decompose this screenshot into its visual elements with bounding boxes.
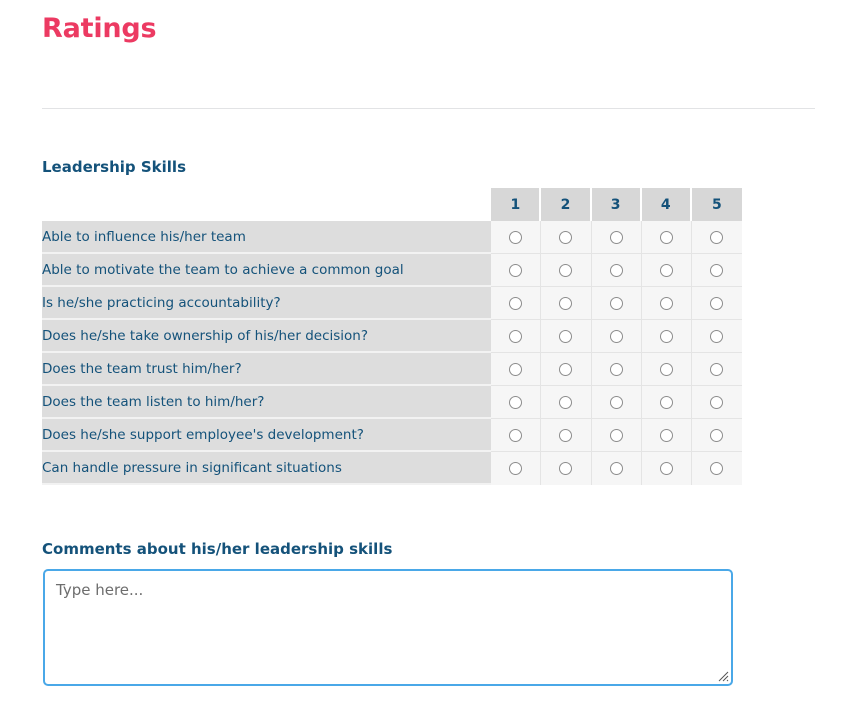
question-label: Able to motivate the team to achieve a c… [42,254,491,287]
radio-cell-r6-c1[interactable] [491,386,541,419]
radio-button-icon[interactable] [710,363,723,376]
radio-button-icon[interactable] [559,297,572,310]
radio-button-icon[interactable] [660,231,673,244]
radio-cell-r7-c4[interactable] [642,419,692,452]
radio-button-icon[interactable] [660,330,673,343]
table-row: Does he/she support employee's developme… [42,419,742,452]
radio-button-icon[interactable] [610,297,623,310]
radio-button-icon[interactable] [710,462,723,475]
radio-button-icon[interactable] [509,396,522,409]
matrix-header-row: 1 2 3 4 5 [42,188,742,221]
radio-cell-r1-c1[interactable] [491,221,541,254]
radio-cell-r3-c2[interactable] [541,287,591,320]
rating-column-header-4: 4 [642,188,692,221]
radio-button-icon[interactable] [660,363,673,376]
radio-cell-r7-c3[interactable] [592,419,642,452]
matrix-corner-cell [42,188,491,221]
matrix-body: Able to influence his/her team Able to m… [42,221,742,485]
radio-cell-r2-c3[interactable] [592,254,642,287]
radio-cell-r6-c2[interactable] [541,386,591,419]
radio-cell-r3-c3[interactable] [592,287,642,320]
header-divider [42,108,815,109]
radio-button-icon[interactable] [710,396,723,409]
radio-cell-r8-c4[interactable] [642,452,692,485]
radio-cell-r8-c1[interactable] [491,452,541,485]
radio-cell-r3-c5[interactable] [692,287,742,320]
radio-cell-r4-c1[interactable] [491,320,541,353]
question-label: Can handle pressure in significant situa… [42,452,491,485]
table-row: Can handle pressure in significant situa… [42,452,742,485]
rating-column-header-1: 1 [491,188,541,221]
radio-button-icon[interactable] [509,363,522,376]
rating-column-header-5: 5 [692,188,742,221]
comments-textarea[interactable] [43,569,733,686]
radio-button-icon[interactable] [559,462,572,475]
radio-cell-r2-c5[interactable] [692,254,742,287]
question-label: Does he/she take ownership of his/her de… [42,320,491,353]
table-row: Does he/she take ownership of his/her de… [42,320,742,353]
radio-cell-r7-c2[interactable] [541,419,591,452]
table-row: Does the team trust him/her? [42,353,742,386]
radio-button-icon[interactable] [610,330,623,343]
radio-button-icon[interactable] [710,264,723,277]
rating-column-header-2: 2 [541,188,591,221]
radio-button-icon[interactable] [509,462,522,475]
radio-cell-r3-c1[interactable] [491,287,541,320]
radio-cell-r2-c2[interactable] [541,254,591,287]
radio-cell-r4-c4[interactable] [642,320,692,353]
question-label: Able to influence his/her team [42,221,491,254]
radio-button-icon[interactable] [610,363,623,376]
radio-cell-r8-c3[interactable] [592,452,642,485]
radio-cell-r4-c2[interactable] [541,320,591,353]
radio-button-icon[interactable] [660,297,673,310]
radio-button-icon[interactable] [559,396,572,409]
radio-cell-r1-c5[interactable] [692,221,742,254]
radio-button-icon[interactable] [660,462,673,475]
radio-button-icon[interactable] [610,396,623,409]
radio-button-icon[interactable] [509,330,522,343]
radio-button-icon[interactable] [710,330,723,343]
radio-cell-r2-c1[interactable] [491,254,541,287]
radio-button-icon[interactable] [660,264,673,277]
radio-button-icon[interactable] [610,264,623,277]
radio-button-icon[interactable] [610,462,623,475]
radio-cell-r6-c4[interactable] [642,386,692,419]
radio-cell-r1-c4[interactable] [642,221,692,254]
radio-button-icon[interactable] [509,231,522,244]
radio-cell-r4-c5[interactable] [692,320,742,353]
rating-column-header-3: 3 [592,188,642,221]
question-label: Does he/she support employee's developme… [42,419,491,452]
radio-button-icon[interactable] [710,297,723,310]
radio-button-icon[interactable] [559,330,572,343]
radio-cell-r5-c4[interactable] [642,353,692,386]
radio-button-icon[interactable] [710,231,723,244]
radio-cell-r6-c5[interactable] [692,386,742,419]
radio-cell-r7-c1[interactable] [491,419,541,452]
radio-cell-r7-c5[interactable] [692,419,742,452]
radio-button-icon[interactable] [610,429,623,442]
section-heading-leadership-skills: Leadership Skills [42,157,186,177]
radio-button-icon[interactable] [559,363,572,376]
comments-label: Comments about his/her leadership skills [42,539,392,559]
table-row: Does the team listen to him/her? [42,386,742,419]
radio-cell-r5-c5[interactable] [692,353,742,386]
radio-cell-r1-c2[interactable] [541,221,591,254]
table-row: Able to influence his/her team [42,221,742,254]
table-row: Able to motivate the team to achieve a c… [42,254,742,287]
page-title: Ratings [42,12,156,46]
radio-button-icon[interactable] [559,429,572,442]
ratings-page: Ratings Leadership Skills 1 2 3 4 5 Able… [0,0,856,716]
table-row: Is he/she practicing accountability? [42,287,742,320]
question-label: Is he/she practicing accountability? [42,287,491,320]
radio-button-icon[interactable] [559,231,572,244]
radio-button-icon[interactable] [660,396,673,409]
leadership-ratings-matrix: 1 2 3 4 5 Able to influence his/her team… [42,188,742,485]
radio-cell-r4-c3[interactable] [592,320,642,353]
radio-button-icon[interactable] [559,264,572,277]
radio-cell-r8-c2[interactable] [541,452,591,485]
radio-cell-r1-c3[interactable] [592,221,642,254]
radio-cell-r5-c3[interactable] [592,353,642,386]
question-label: Does the team trust him/her? [42,353,491,386]
radio-button-icon[interactable] [710,429,723,442]
radio-button-icon[interactable] [509,429,522,442]
question-label: Does the team listen to him/her? [42,386,491,419]
radio-cell-r2-c4[interactable] [642,254,692,287]
radio-button-icon[interactable] [509,297,522,310]
radio-button-icon[interactable] [509,264,522,277]
radio-button-icon[interactable] [610,231,623,244]
radio-button-icon[interactable] [660,429,673,442]
radio-cell-r5-c1[interactable] [491,353,541,386]
radio-cell-r5-c2[interactable] [541,353,591,386]
radio-cell-r6-c3[interactable] [592,386,642,419]
radio-cell-r3-c4[interactable] [642,287,692,320]
radio-cell-r8-c5[interactable] [692,452,742,485]
